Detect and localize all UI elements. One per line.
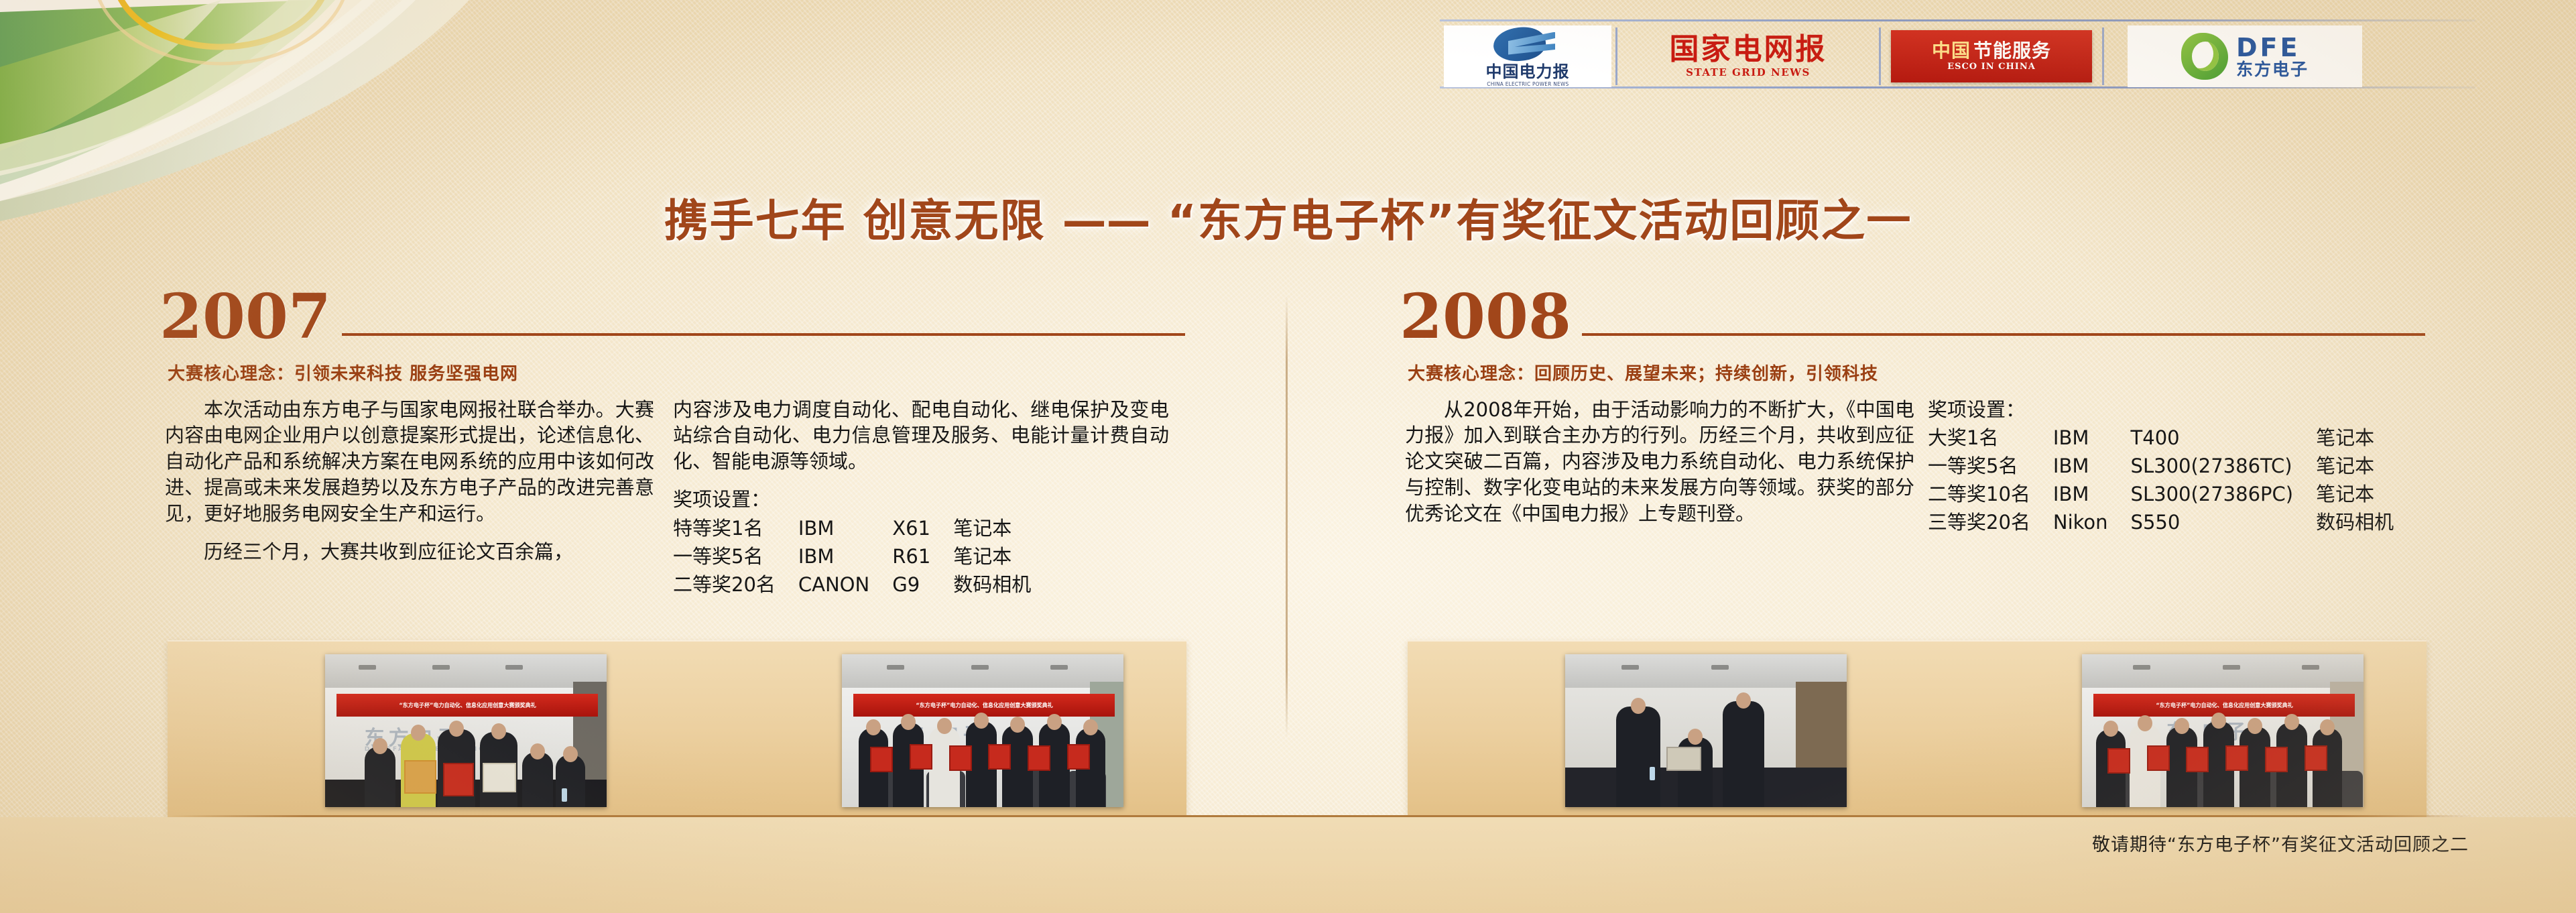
section-body-columns: 本次活动由东方电子与国家电网报社联合举办。大赛内容由电网企业用户以创意提案形式提… xyxy=(165,397,1185,600)
year-heading-row: 2008 xyxy=(1400,288,2425,345)
footer-note: 敬请期待“东方电子杯”有奖征文活动回顾之二 xyxy=(2092,830,2469,856)
table-row: 二等奖20名 CANON G9 数码相机 xyxy=(673,572,1031,600)
awards-table: 大奖1名 IBM T400 笔记本 一等奖5名 IBM SL300(27386T… xyxy=(1928,425,2394,537)
photo-person-head xyxy=(974,713,989,729)
photo-person-head xyxy=(491,723,506,739)
body-paragraph: 内容涉及电力调度自动化、配电自动化、继电保护及变电站综合自动化、电力信息管理及服… xyxy=(673,397,1169,475)
logo-en-text: STATE GRID NEWS xyxy=(1686,66,1811,78)
title-sub: “东方电子杯”有奖征文活动回顾之一 xyxy=(1168,195,1912,247)
photo-award-plaque xyxy=(2147,745,2170,771)
awards-table: 特等奖1名 IBM X61 笔记本 一等奖5名 IBM R61 笔记本 二等奖2… xyxy=(673,515,1031,600)
photo-person-head xyxy=(2103,721,2118,737)
award-model: G9 xyxy=(869,572,930,600)
award-brand: IBM xyxy=(2030,453,2108,481)
award-item: 数码相机 xyxy=(930,572,1031,600)
photo-person-head xyxy=(866,719,881,735)
logo-cn-text: 节能服务 xyxy=(1973,42,2051,60)
award-rank: 二等奖10名 xyxy=(1928,481,2030,509)
section-body-columns: 从2008年开始，由于活动影响力的不断扩大，《中国电力报》加入到联合主办方的行列… xyxy=(1405,397,2425,539)
award-model: R61 xyxy=(869,544,930,572)
photo-award-plaque xyxy=(2107,748,2130,774)
body-column-left: 从2008年开始，由于活动影响力的不断扩大，《中国电力报》加入到联合主办方的行列… xyxy=(1405,397,1914,539)
photo-person-head xyxy=(2284,714,2299,730)
body-paragraph: 从2008年开始，由于活动影响力的不断扩大，《中国电力报》加入到联合主办方的行列… xyxy=(1405,397,1914,527)
photo-person-head xyxy=(1047,714,1062,730)
award-rank: 大奖1名 xyxy=(1928,425,2030,453)
award-brand: IBM xyxy=(776,544,869,572)
photo-award-plaque xyxy=(2305,745,2327,771)
body-column-left: 本次活动由东方电子与国家电网报社联合举办。大赛内容由电网企业用户以创意提案形式提… xyxy=(165,397,654,600)
year-heading-row: 2007 xyxy=(160,288,1185,345)
awards-title: 奖项设置： xyxy=(673,487,1169,513)
footer-rule xyxy=(168,815,2475,817)
photo-ceiling xyxy=(2082,654,2364,688)
photo-lamp xyxy=(2223,665,2240,670)
photo-award-plaque xyxy=(910,744,932,770)
photo-person-head xyxy=(530,743,545,759)
esco-red-plate: 中国 节能服务 ESCO IN CHINA xyxy=(1891,30,2092,82)
logo-white-plate: DFE 东方电子 xyxy=(2128,25,2362,87)
photo-water-bottle xyxy=(562,788,567,802)
table-row: 一等奖5名 IBM SL300(27386TC) 笔记本 xyxy=(1928,453,2394,481)
china-electric-power-mark-icon xyxy=(1488,26,1567,62)
photo-award-plaque xyxy=(1028,745,1050,771)
section-2008: 2008 大赛核心理念：回顾历史、展望未来；持续创新，引领科技 从2008年开始… xyxy=(1400,288,2425,539)
award-brand: IBM xyxy=(2030,425,2108,453)
table-row: 二等奖10名 IBM SL300(27386PC) 笔记本 xyxy=(1928,481,2394,509)
dfe-text-group: DFE 东方电子 xyxy=(2236,35,2309,78)
logo-cn-text: 国家电网报 xyxy=(1670,35,1827,64)
photo-ceiling xyxy=(325,654,607,688)
logo-en-text: ESCO IN CHINA xyxy=(1947,62,2036,72)
logo-en-text: CHINA ELECTRIC POWER NEWS xyxy=(1487,81,1569,87)
logo-state-grid-news: 国家电网报 STATE GRID NEWS xyxy=(1617,24,1879,88)
table-row: 一等奖5名 IBM R61 笔记本 xyxy=(673,544,1031,572)
photo-person xyxy=(556,755,585,807)
title-dash: —— xyxy=(1062,195,1151,247)
ceremony-photo: “东方电子杯”电力自动化、信息化应用创意大赛颁奖典礼 东方电子 DONGFANG… xyxy=(325,654,607,807)
awards-title: 奖项设置： xyxy=(1928,397,2397,423)
award-item: 数码相机 xyxy=(2293,509,2394,538)
award-brand: IBM xyxy=(2030,481,2108,509)
dfe-inner: DFE 东方电子 xyxy=(2181,33,2309,80)
photo-banner-text: “东方电子杯”电力自动化、信息化应用创意大赛颁奖典礼 xyxy=(2156,701,2292,709)
logo-abbr-text: DFE xyxy=(2236,35,2309,60)
award-item: 笔记本 xyxy=(2293,481,2394,509)
award-item: 笔记本 xyxy=(930,544,1031,572)
award-brand: IBM xyxy=(776,515,869,544)
photo-award-plaque xyxy=(870,747,893,772)
photo-lamp xyxy=(2133,665,2150,670)
award-model: SL300(27386PC) xyxy=(2108,481,2294,509)
award-rank: 一等奖5名 xyxy=(1928,453,2030,481)
photo-lamp xyxy=(1050,665,1068,670)
partner-logo-bar: 中国电力报 CHINA ELECTRIC POWER NEWS 国家电网报 ST… xyxy=(1440,9,2475,90)
award-item: 笔记本 xyxy=(930,515,1031,544)
photo-person-head xyxy=(1083,719,1098,735)
award-rank: 三等奖20名 xyxy=(1928,509,2030,538)
award-rank: 一等奖5名 xyxy=(673,544,776,572)
year-rule xyxy=(1582,333,2425,336)
logo-esco-in-china: 中国 节能服务 ESCO IN CHINA xyxy=(1881,24,2102,88)
logo-white-plate: 中国电力报 CHINA ELECTRIC POWER NEWS xyxy=(1444,25,1611,87)
photo-stage-banner: “东方电子杯”电力自动化、信息化应用创意大赛颁奖典礼 xyxy=(2093,694,2355,717)
photo-person-head xyxy=(2211,713,2226,729)
award-brand: Nikon xyxy=(2030,509,2108,538)
photo-person-head xyxy=(901,714,916,730)
photo-person-head xyxy=(2320,719,2335,735)
body-paragraph: 历经三个月，大赛共收到应征论文百余篇， xyxy=(165,539,654,565)
photo-award-plaque xyxy=(404,760,436,794)
photo-banner-2007: “东方电子杯”电力自动化、信息化应用创意大赛颁奖典礼 东方电子 DONGFANG… xyxy=(168,640,1186,821)
table-row: 三等奖20名 Nikon S550 数码相机 xyxy=(1928,509,2394,538)
photo-lamp xyxy=(887,665,904,670)
photo-person-head xyxy=(411,725,426,741)
logo-dongfang-electronics: DFE 东方电子 xyxy=(2104,24,2386,88)
photo-person-head xyxy=(2248,718,2262,734)
photo-banner-text: “东方电子杯”电力自动化、信息化应用创意大赛颁奖典礼 xyxy=(399,701,536,709)
award-model: X61 xyxy=(869,515,930,544)
photo-person-head xyxy=(1688,729,1703,745)
photo-person-head xyxy=(1010,717,1025,733)
photo-lamp xyxy=(1621,665,1639,670)
photo-award-plaque xyxy=(949,745,972,771)
photo-person-head xyxy=(1631,698,1646,714)
body-paragraph: 本次活动由东方电子与国家电网报社联合举办。大赛内容由电网企业用户以创意提案形式提… xyxy=(165,397,654,527)
photo-lamp xyxy=(1711,665,1729,670)
logo-list: 中国电力报 CHINA ELECTRIC POWER NEWS 国家电网报 ST… xyxy=(1440,24,2386,88)
section-concept: 大赛核心理念：回顾历史、展望未来；持续创新，引领科技 xyxy=(1408,360,2425,385)
table-row: 特等奖1名 IBM X61 笔记本 xyxy=(673,515,1031,544)
photo-person xyxy=(365,747,395,807)
award-rank: 特等奖1名 xyxy=(673,515,776,544)
year-label: 2008 xyxy=(1400,288,1571,345)
dfe-leaf-icon xyxy=(2181,33,2228,80)
logo-cn-line: 中国 节能服务 xyxy=(1932,42,2051,60)
photo-award-plaque xyxy=(2265,747,2288,772)
photo-lamp xyxy=(971,665,989,670)
award-rank: 二等奖20名 xyxy=(673,572,776,600)
table-row: 大奖1名 IBM T400 笔记本 xyxy=(1928,425,2394,453)
award-item: 笔记本 xyxy=(2293,453,2394,481)
photo-person-head xyxy=(563,746,578,762)
year-rule xyxy=(342,333,1185,336)
photo-person-head xyxy=(1736,692,1751,709)
award-brand: CANON xyxy=(776,572,869,600)
poster-title: 携手七年 创意无限 —— “东方电子杯”有奖征文活动回顾之一 xyxy=(0,185,2576,249)
award-model: S550 xyxy=(2108,509,2294,538)
photo-award-plaque xyxy=(2225,745,2248,771)
logo-china-electric-power-news: 中国电力报 CHINA ELECTRIC POWER NEWS xyxy=(1440,24,1615,88)
photo-award-plaque xyxy=(443,763,474,796)
title-main: 携手七年 创意无限 xyxy=(664,195,1046,247)
photo-award-plaque xyxy=(483,763,516,792)
photo-person xyxy=(1723,701,1764,807)
section-2007: 2007 大赛核心理念：引领未来科技 服务坚强电网 本次活动由东方电子与国家电网… xyxy=(160,288,1185,600)
photo-banner-text: “东方电子杯”电力自动化、信息化应用创意大赛颁奖典礼 xyxy=(916,701,1052,709)
photo-person xyxy=(1616,707,1660,807)
photo-ceiling xyxy=(842,654,1123,688)
photo-person-head xyxy=(449,721,464,737)
photo-person-head xyxy=(2174,718,2189,734)
photo-lamp xyxy=(2302,665,2319,670)
logo-bar-top-rule xyxy=(1440,19,2475,21)
award-item: 笔记本 xyxy=(2293,425,2394,453)
ceremony-photo: “东方电子杯”电力自动化、信息化应用创意大赛颁奖典礼 东 电子 xyxy=(842,654,1123,807)
award-model: T400 xyxy=(2108,425,2294,453)
logo-cn-prefix: 中国 xyxy=(1932,42,1971,60)
photo-award-plaque xyxy=(988,744,1011,770)
photo-person-head xyxy=(937,718,952,734)
poster-canvas: 中国电力报 CHINA ELECTRIC POWER NEWS 国家电网报 ST… xyxy=(0,0,2576,913)
photo-lamp xyxy=(432,665,450,670)
photo-banner-2008: “东方电子杯”电力自动化、信息化应用创意大赛颁奖典礼 东 电子 xyxy=(1408,640,2427,821)
photo-person xyxy=(522,752,553,807)
logo-cn-text: 东方电子 xyxy=(2236,61,2309,78)
body-column-right: 奖项设置： 大奖1名 IBM T400 笔记本 一等奖5名 IBM SL300(… xyxy=(1914,397,2397,539)
column-divider xyxy=(1286,295,1288,737)
photo-person-head xyxy=(373,738,387,754)
photo-stage-banner: “东方电子杯”电力自动化、信息化应用创意大赛颁奖典礼 xyxy=(336,694,599,717)
photo-award-plaque xyxy=(2186,747,2209,772)
photo-water-bottle xyxy=(1650,767,1655,780)
photo-award-plaque xyxy=(1067,744,1090,770)
year-label: 2007 xyxy=(160,288,331,345)
section-concept: 大赛核心理念：引领未来科技 服务坚强电网 xyxy=(168,360,1185,385)
ceremony-photo xyxy=(1565,654,1847,807)
ceremony-photo: “东方电子杯”电力自动化、信息化应用创意大赛颁奖典礼 东 电子 xyxy=(2082,654,2364,807)
award-model: SL300(27386TC) xyxy=(2108,453,2294,481)
photo-lamp xyxy=(359,665,376,670)
photo-lamp xyxy=(505,665,523,670)
photo-award-plaque xyxy=(1666,747,1701,771)
photo-person-head xyxy=(2138,715,2152,731)
body-column-right: 内容涉及电力调度自动化、配电自动化、继电保护及变电站综合自动化、电力信息管理及服… xyxy=(654,397,1169,600)
logo-cn-text: 中国电力报 xyxy=(1486,64,1570,80)
